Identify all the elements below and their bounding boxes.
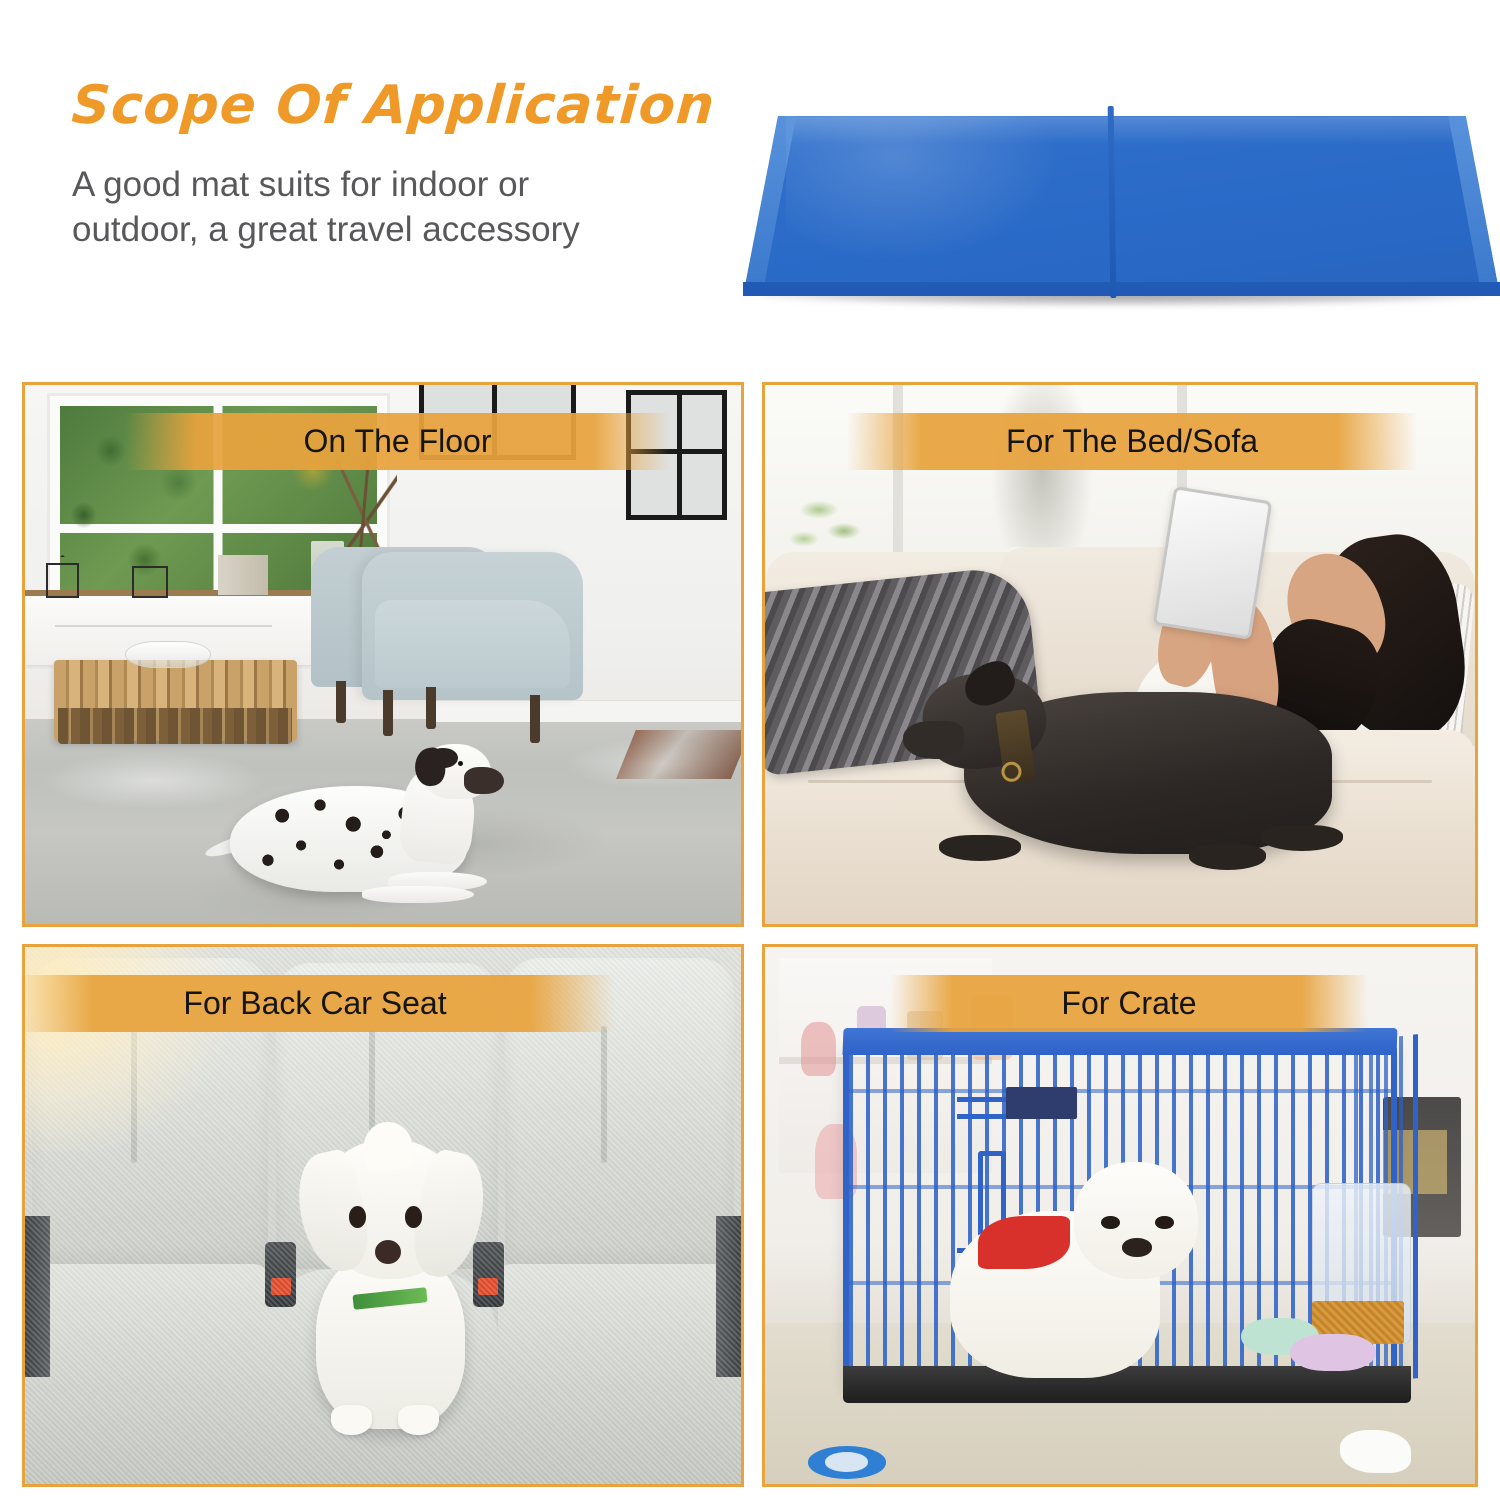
chair-leg xyxy=(530,695,540,743)
lantern-decor-1 xyxy=(46,563,78,598)
dog-muzzle xyxy=(464,767,504,795)
tissue-on-floor xyxy=(1340,1430,1411,1473)
chair-leg xyxy=(336,681,346,723)
label-banner-for-back-car-seat: For Back Car Seat xyxy=(22,975,615,1032)
door-pillar-left xyxy=(25,1216,50,1377)
crate-latch-upper xyxy=(957,1097,1014,1118)
crate-brand-plate xyxy=(1006,1087,1077,1119)
card-for-crate[interactable]: For Crate xyxy=(762,944,1478,1487)
dalmatian-dog xyxy=(204,741,533,913)
dog-head xyxy=(1074,1162,1198,1279)
application-photo-grid: On The Floor xyxy=(22,382,1478,1487)
mat-top-rim xyxy=(778,104,1466,109)
card-for-back-car-seat[interactable]: For Back Car Seat xyxy=(22,944,744,1487)
mat-sheen xyxy=(786,112,1060,262)
dog-foreleg xyxy=(362,886,474,903)
cooling-mat-illustration xyxy=(740,88,1500,338)
page-subtitle: A good mat suits for indoor or outdoor, … xyxy=(72,163,652,253)
blue-toy xyxy=(808,1446,886,1478)
banner-label: For The Bed/Sofa xyxy=(1006,423,1258,460)
seat-base xyxy=(25,1264,268,1484)
label-banner-for-the-bed-sofa: For The Bed/Sofa xyxy=(847,413,1417,470)
books xyxy=(218,555,268,595)
dog-muzzle xyxy=(903,721,964,759)
dog-paw xyxy=(1261,825,1343,851)
dog-paw xyxy=(1189,844,1266,870)
dog-paw xyxy=(398,1405,439,1435)
seatbelt-buckle xyxy=(265,1242,297,1306)
shelf-item xyxy=(801,1022,837,1076)
card-on-the-floor[interactable]: On The Floor xyxy=(22,382,744,927)
dog-nose xyxy=(375,1240,401,1264)
glass-bowl xyxy=(125,641,211,668)
dog-eye xyxy=(405,1206,422,1227)
infographic-page: Scope Of Application A good mat suits fo… xyxy=(0,0,1500,1500)
lantern-decor-2 xyxy=(132,566,168,598)
banner-label: For Back Car Seat xyxy=(183,985,446,1022)
seat-base xyxy=(498,1264,741,1484)
dog-paw xyxy=(331,1405,372,1435)
dog-eye xyxy=(1101,1216,1120,1230)
chair-leg xyxy=(383,690,393,736)
black-dog xyxy=(893,655,1404,892)
baseboard xyxy=(426,700,741,722)
door-pillar-right xyxy=(716,1216,741,1377)
chair-leg xyxy=(426,687,436,729)
food-bowl-purple xyxy=(1290,1334,1375,1372)
label-banner-for-crate: For Crate xyxy=(890,975,1368,1032)
header: Scope Of Application A good mat suits fo… xyxy=(0,0,740,360)
red-bow xyxy=(978,1216,1070,1270)
white-dog xyxy=(950,1162,1220,1388)
dog-eye xyxy=(349,1206,366,1227)
card-for-the-bed-sofa[interactable]: For The Bed/Sofa xyxy=(762,382,1478,927)
armchair-front xyxy=(362,552,584,700)
area-rug xyxy=(617,730,741,779)
banner-label: On The Floor xyxy=(304,423,492,460)
label-banner-on-the-floor: On The Floor xyxy=(125,413,670,470)
dog-nose xyxy=(1122,1238,1152,1256)
dog-paw xyxy=(939,835,1021,861)
product-image xyxy=(740,88,1500,338)
page-title: Scope Of Application xyxy=(70,75,717,136)
maltese-dog xyxy=(297,1140,483,1441)
log-coffee-table xyxy=(54,660,297,741)
banner-label: For Crate xyxy=(1061,985,1196,1022)
dog-eye xyxy=(1155,1216,1174,1230)
